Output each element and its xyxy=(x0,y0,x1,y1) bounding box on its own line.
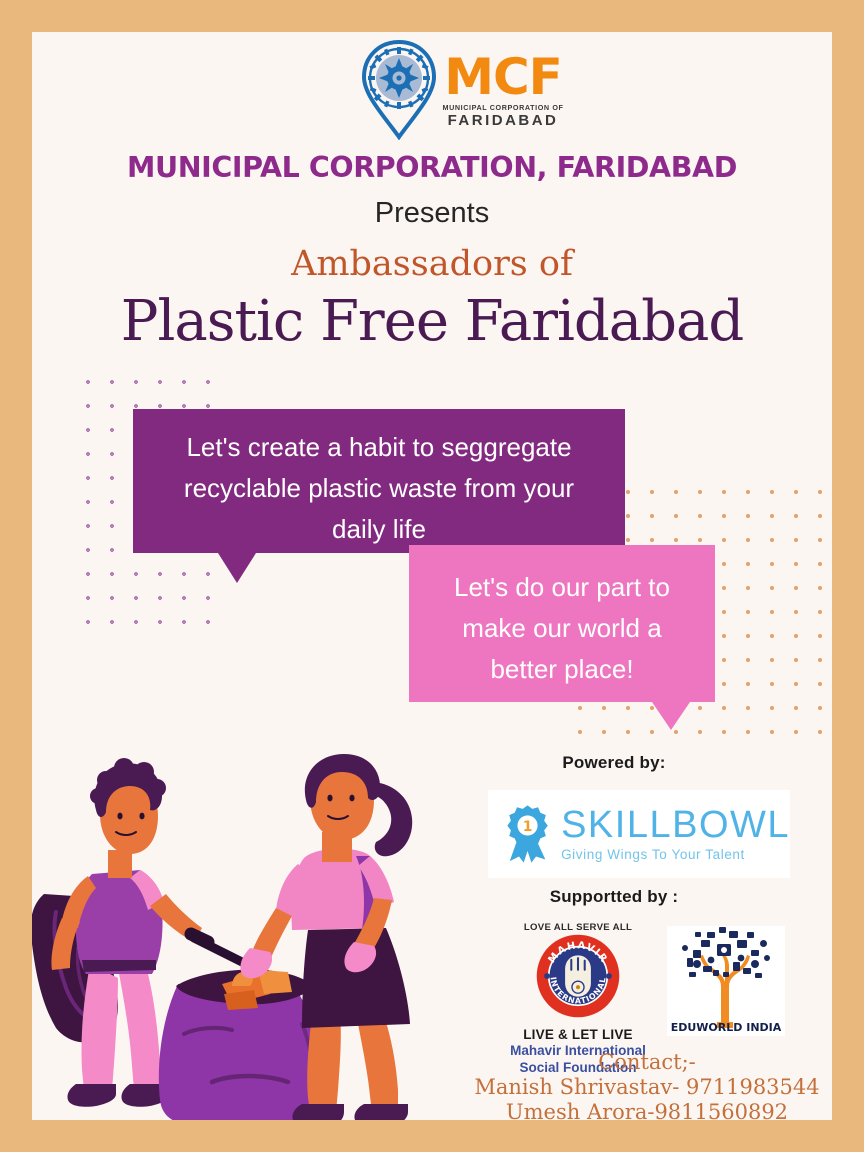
people-collecting-plastic-waste-illustration xyxy=(32,698,456,1120)
ambassadors-subtitle: Ambassadors of xyxy=(32,244,832,284)
contact-heading: Contact;- xyxy=(462,1050,832,1075)
purple-speech-bubble: Let's create a habit to seggregate recyc… xyxy=(133,409,625,553)
supported-by-label: Supportted by : xyxy=(464,887,764,907)
mcf-wordmark: MCF xyxy=(444,52,562,102)
eduworld-label: EDUWORLD INDIA xyxy=(671,1021,782,1034)
mahavir-top-text: LOVE ALL SERVE ALL xyxy=(494,922,662,933)
mcf-subline-2: FARIDABAD xyxy=(448,113,559,128)
pink-speech-bubble: Let's do our part to make our world a be… xyxy=(409,545,715,702)
ribbon-badge-icon: 1 xyxy=(502,795,553,873)
svg-text:1: 1 xyxy=(523,819,533,835)
eduworld-india-logo: EDUWORLD INDIA xyxy=(667,926,785,1036)
mahavir-emblem-icon: MAHAVIR INTERNATIONAL xyxy=(535,933,621,1019)
contact-line-1: Manish Shrivastav- 9711983544 xyxy=(462,1075,832,1100)
presents-text: Presents xyxy=(32,197,832,230)
page-title: Plastic Free Faridabad xyxy=(32,289,832,354)
skillbowl-logo: 1 SKILLBOWL Giving Wings To Your Talent xyxy=(488,790,790,878)
pink-bubble-text: Let's do our part to make our world a be… xyxy=(427,567,697,690)
poster-inner: MCF MUNICIPAL CORPORATION OF FARIDABAD M… xyxy=(32,32,832,1120)
skillbowl-tagline: Giving Wings To Your Talent xyxy=(561,847,790,862)
pink-bubble-tail xyxy=(652,702,690,730)
contact-line-2: Umesh Arora-9811560892 xyxy=(462,1100,832,1120)
mahavir-bottom-text: LIVE & LET LIVE xyxy=(494,1027,662,1042)
purple-bubble-text: Let's create a habit to seggregate recyc… xyxy=(159,427,599,550)
tree-of-knowledge-icon: EDUWORLD INDIA xyxy=(667,926,785,1036)
contact-block: Contact;- Manish Shrivastav- 9711983544 … xyxy=(462,1050,832,1120)
poster: MCF MUNICIPAL CORPORATION OF FARIDABAD M… xyxy=(0,0,864,1152)
powered-by-label: Powered by: xyxy=(464,753,764,773)
organization-heading: MUNICIPAL CORPORATION, FARIDABAD xyxy=(32,151,832,184)
map-pin-gear-icon xyxy=(360,40,438,140)
skillbowl-wordmark: SKILLBOWL xyxy=(561,806,790,844)
purple-bubble-tail xyxy=(218,553,256,583)
mcf-logo: MCF MUNICIPAL CORPORATION OF FARIDABAD xyxy=(342,32,582,148)
mcf-subline-1: MUNICIPAL CORPORATION OF xyxy=(442,104,563,111)
